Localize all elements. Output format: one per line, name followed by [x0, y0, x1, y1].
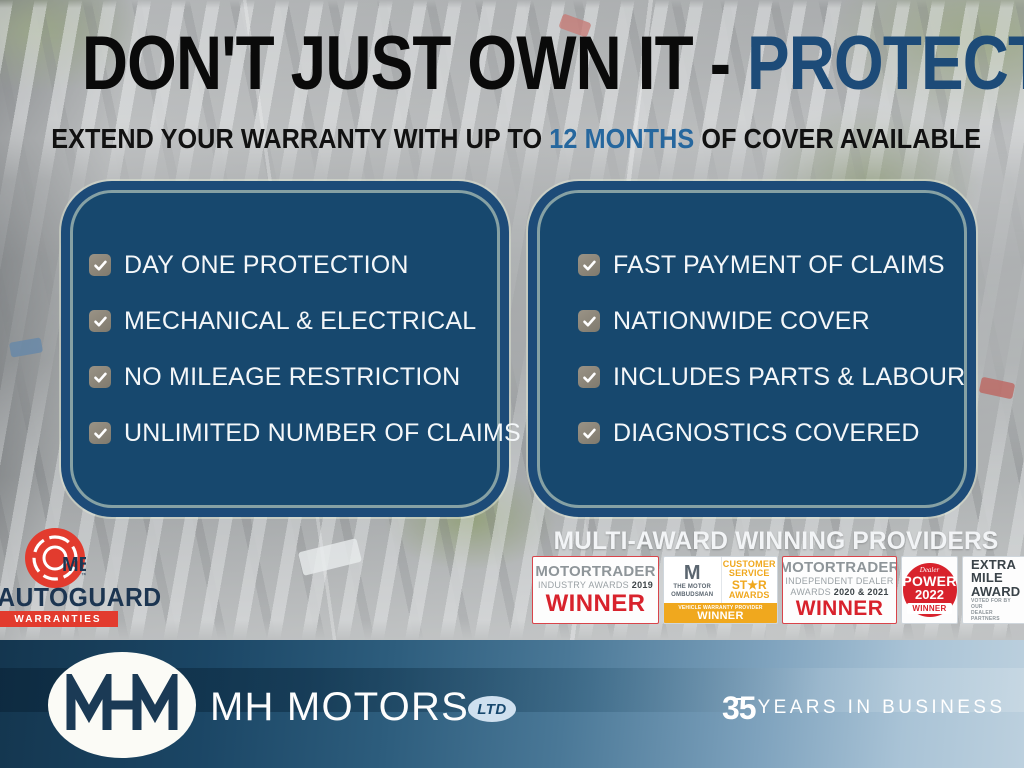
company-name: MH MOTORS — [210, 686, 469, 728]
checkmark-icon — [578, 254, 600, 276]
checkmark-icon — [89, 254, 111, 276]
mbi-subtitle: WARRANTIES — [0, 611, 118, 627]
star-icon: ST★R — [732, 579, 767, 591]
feature-item: DIAGNOSTICS COVERED — [562, 419, 940, 448]
mbi-autoguard-logo: MBi ™ AUTOGUARD WARRANTIES — [0, 527, 124, 627]
badge-year: 2019 — [632, 580, 653, 590]
extra-mile-line-1: EXTRA — [966, 558, 1022, 572]
feature-label: FAST PAYMENT OF CLAIMS — [613, 251, 945, 280]
feature-label: NATIONWIDE COVER — [613, 307, 870, 336]
checkmark-icon — [578, 422, 600, 444]
badge-subtitle: INDEPENDENT DEALER — [785, 576, 893, 587]
feature-item: FAST PAYMENT OF CLAIMS — [562, 251, 940, 280]
power-word: POWER — [902, 574, 956, 588]
feature-box-right: FAST PAYMENT OF CLAIMS NATIONWIDE COVER … — [537, 190, 967, 508]
award-badge-extra-mile: EXTRA MILE AWARD VOTED FOR BY OUR DEALER… — [962, 556, 1024, 624]
awards-badge-row: MOTORTRADER INDUSTRY AWARDS 2019 WINNER … — [532, 556, 1024, 624]
extra-mile-sub-2: DEALER PARTNERS — [966, 610, 1022, 622]
badge-subtitle-text: INDUSTRY AWARDS — [538, 580, 629, 590]
years-label: YEARS IN BUSINESS — [758, 698, 1006, 718]
award-badge-dealer-power-2022: Dealer POWER 2022 WINNER — [901, 556, 958, 624]
feature-label: DIAGNOSTICS COVERED — [613, 419, 920, 448]
badge-brand-text: MOTORTRADER — [782, 559, 897, 576]
badge-brand: MOTORTRADER — [782, 560, 897, 576]
badge-winner-band: VEHICLE WARRANTY PROVIDER WINNER — [664, 603, 777, 623]
subhead-before: EXTEND YOUR WARRANTY WITH UP TO — [51, 123, 549, 154]
badge-winner-label: WINNER — [546, 591, 646, 616]
headline-part-1: DON'T JUST OWN IT - — [82, 21, 747, 106]
feature-item: UNLIMITED NUMBER OF CLAIMS — [73, 419, 473, 448]
badge-brand: MOTORTRADER — [535, 564, 655, 580]
feature-item: INCLUDES PARTS & LABOUR — [562, 363, 940, 392]
extra-mile-sub-1: VOTED FOR BY OUR — [966, 598, 1022, 610]
promo-banner: DON'T JUST OWN IT - PROTECT IT EXTEND YO… — [0, 0, 1024, 768]
subhead-after: OF COVER AVAILABLE — [694, 123, 981, 154]
badge-awards-word: AWARDS — [790, 587, 831, 597]
mhm-monogram-icon — [63, 674, 181, 736]
award-badge-motor-ombudsman-star-awards: M THE MOTOR OMBUDSMAN CUSTOMER SERVICE S… — [663, 556, 778, 624]
years-in-business: 35 YEARS IN BUSINESS — [722, 692, 1005, 724]
power-year: 2022 — [915, 588, 944, 601]
badge-winner-label: WINNER — [796, 598, 884, 620]
mhm-logo-oval — [48, 652, 196, 758]
years-number: 35 — [722, 692, 756, 724]
ombudsman-m-icon: M — [684, 564, 701, 583]
mbi-wordmark: AUTOGUARD — [0, 583, 119, 611]
extra-mile-line-2: MILE — [966, 571, 1022, 585]
page-title: DON'T JUST OWN IT - PROTECT IT — [82, 23, 942, 105]
feature-item: NATIONWIDE COVER — [562, 307, 940, 336]
checkmark-icon — [578, 310, 600, 332]
feature-item: MECHANICAL & ELECTRICAL — [73, 307, 473, 336]
badge-brand-text: MOTORTRADER — [535, 563, 655, 580]
cs-line-4: AWARDS — [729, 591, 770, 601]
customer-service-block: CUSTOMER SERVICE ST★R AWARDS — [721, 557, 778, 603]
badge-top-row: M THE MOTOR OMBUDSMAN CUSTOMER SERVICE S… — [664, 557, 777, 603]
checkmark-icon — [89, 310, 111, 332]
badge-winner-label: WINNER — [907, 603, 951, 614]
ltd-badge: LTD — [468, 696, 516, 722]
ombudsman-block: M THE MOTOR OMBUDSMAN — [664, 557, 721, 603]
ombudsman-line-1: THE MOTOR — [673, 584, 711, 591]
footer-bar: MH MOTORS LTD 35 YEARS IN BUSINESS — [0, 640, 1024, 768]
awards-heading: MULTI-AWARD WINNING PROVIDERS — [533, 527, 1019, 556]
feature-box-left: DAY ONE PROTECTION MECHANICAL & ELECTRIC… — [70, 190, 500, 508]
band-winner-label: WINNER — [697, 611, 743, 622]
feature-item: NO MILEAGE RESTRICTION — [73, 363, 473, 392]
extra-mile-line-3: AWARD — [966, 585, 1022, 599]
feature-label: INCLUDES PARTS & LABOUR — [613, 363, 965, 392]
feature-label: UNLIMITED NUMBER OF CLAIMS — [124, 419, 521, 448]
page-subtitle: EXTEND YOUR WARRANTY WITH UP TO 12 MONTH… — [51, 123, 973, 155]
feature-label: NO MILEAGE RESTRICTION — [124, 363, 460, 392]
subhead-highlight: 12 MONTHS — [549, 123, 694, 154]
checkmark-icon — [578, 366, 600, 388]
feature-label: DAY ONE PROTECTION — [124, 251, 409, 280]
badge-year: 2020 & 2021 — [834, 587, 889, 597]
checkmark-icon — [89, 422, 111, 444]
dealer-power-circle: Dealer POWER 2022 WINNER — [903, 563, 957, 617]
award-badge-motortrader-independent-dealer: MOTORTRADER INDEPENDENT DEALER AWARDS 20… — [782, 556, 897, 624]
mbi-circle-icon: MBi ™ — [24, 527, 86, 589]
headline-part-2: PROTECT IT — [747, 21, 1024, 106]
checkmark-icon — [89, 366, 111, 388]
award-badge-motortrader-industry-2019: MOTORTRADER INDUSTRY AWARDS 2019 WINNER — [532, 556, 659, 624]
svg-text:™: ™ — [81, 572, 86, 579]
feature-item: DAY ONE PROTECTION — [73, 251, 473, 280]
ombudsman-line-2: OMBUDSMAN — [671, 592, 713, 599]
feature-label: MECHANICAL & ELECTRICAL — [124, 307, 476, 336]
